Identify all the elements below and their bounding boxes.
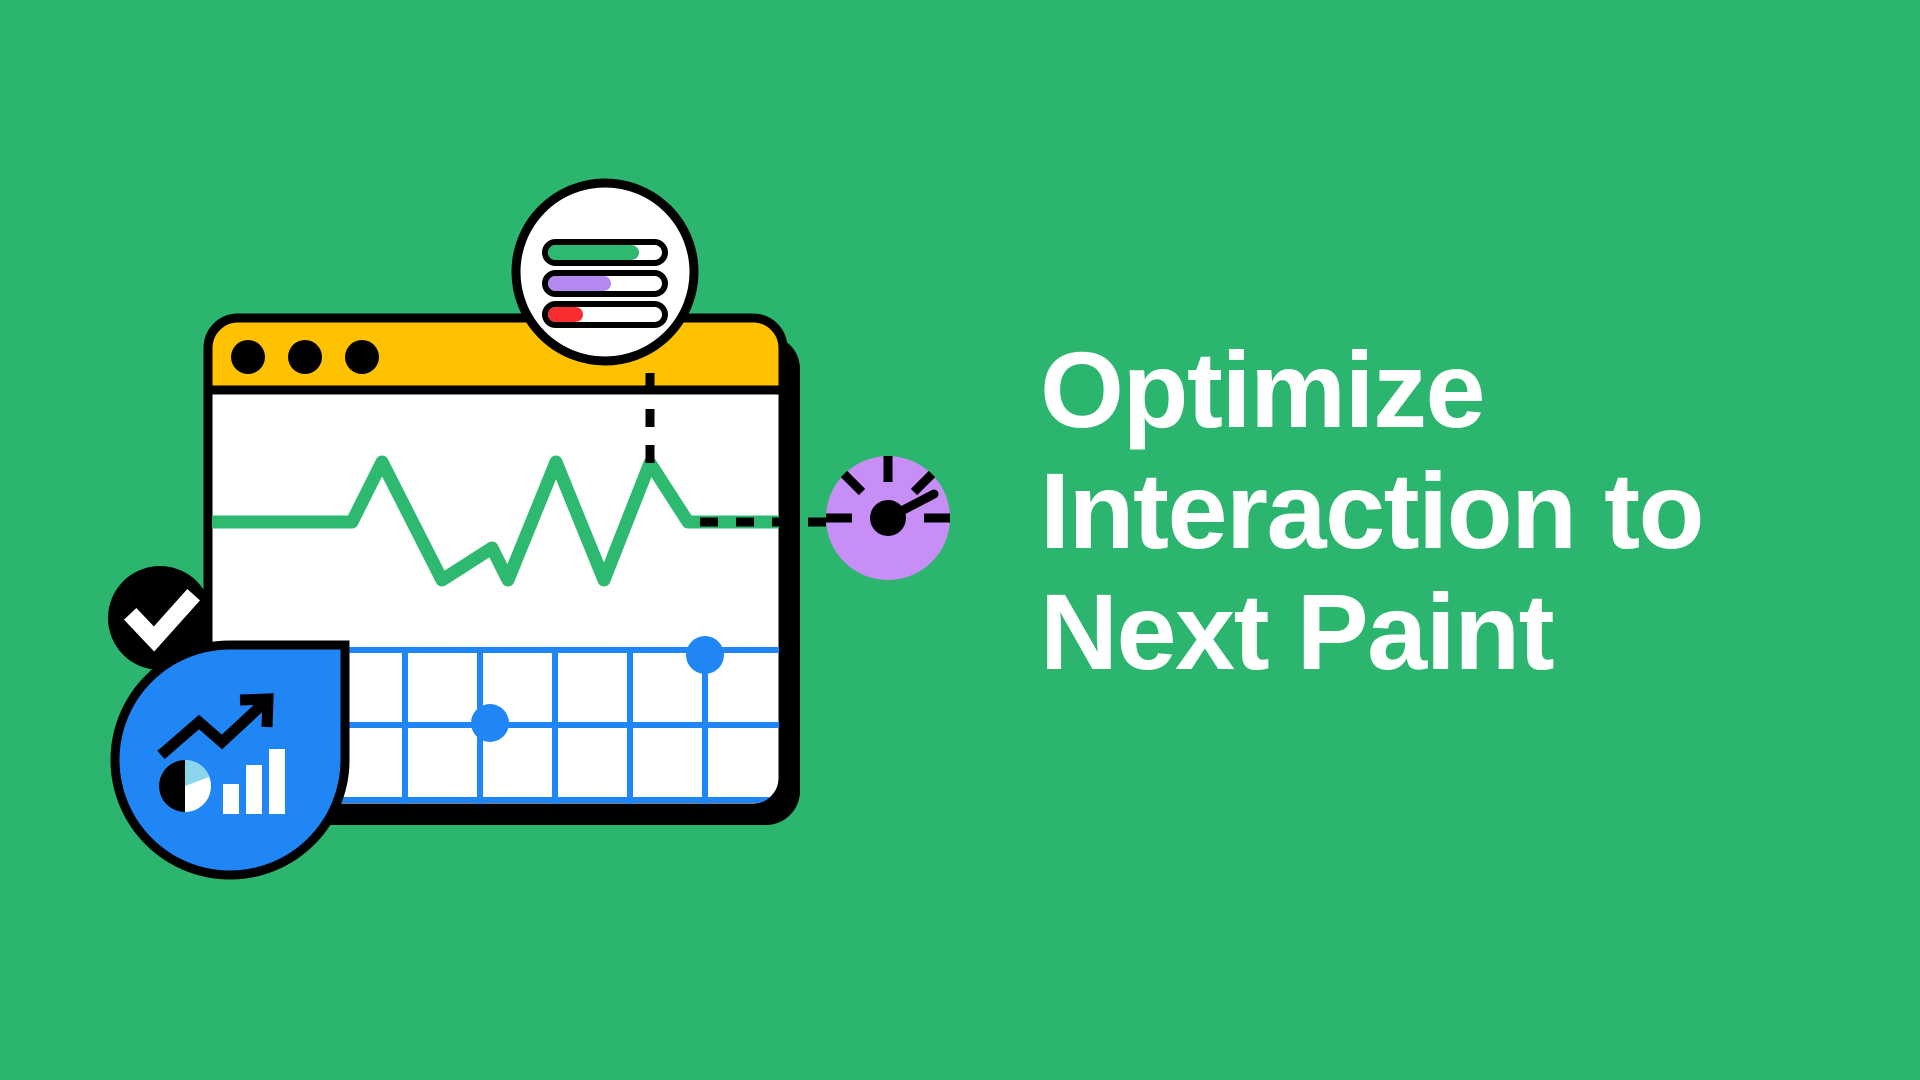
progress-bar-red-fill (548, 307, 583, 322)
analytics-badge-shape (115, 645, 345, 875)
headline-line-1: Optimize (1040, 330, 1870, 451)
gauge-hub (870, 500, 906, 536)
pie-chart-icon (159, 760, 211, 812)
window-dot-1[interactable] (231, 340, 265, 374)
poster-canvas: Optimize Interaction to Next Paint (0, 0, 1920, 1080)
metrics-badge[interactable] (516, 183, 694, 361)
progress-bar-purple-fill (548, 276, 611, 291)
progress-bar-green-fill (548, 245, 639, 260)
headline-line-3: Next Paint (1040, 572, 1870, 693)
speed-gauge[interactable] (826, 456, 950, 580)
headline-line-2: Interaction to (1040, 451, 1870, 572)
analytics-badge[interactable] (115, 645, 345, 875)
page-title: Optimize Interaction to Next Paint (1040, 330, 1870, 693)
grid-point-2[interactable] (686, 636, 724, 674)
grid-point-1[interactable] (471, 704, 509, 742)
window-dot-3[interactable] (345, 340, 379, 374)
illustration-group (0, 0, 1100, 1080)
window-dot-2[interactable] (288, 340, 322, 374)
